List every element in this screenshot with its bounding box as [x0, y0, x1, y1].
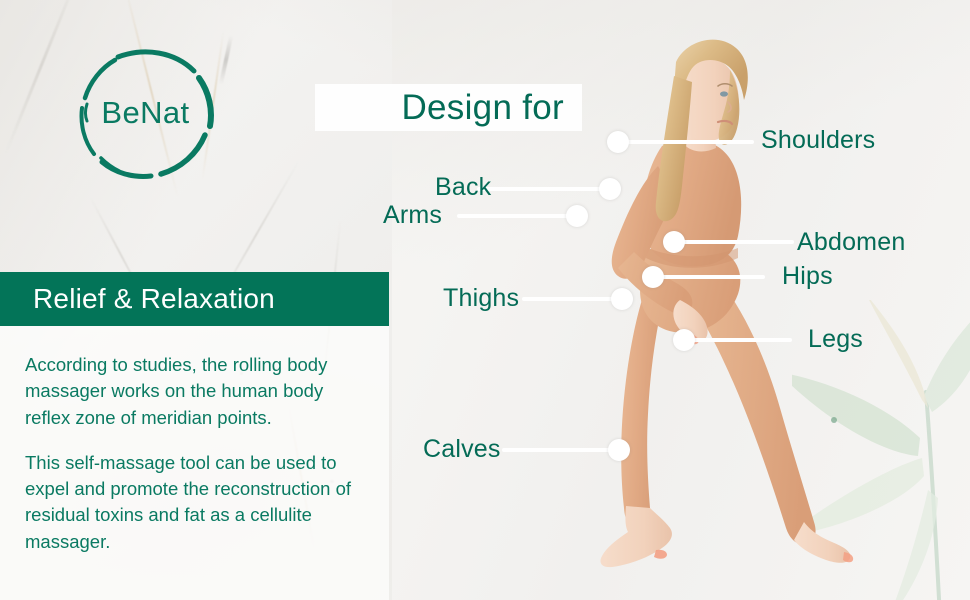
product-infographic: Shoulders Back Arms Abdomen Hips Thighs … — [0, 0, 970, 600]
callout-dot-hips[interactable] — [642, 266, 664, 288]
callout-dot-legs[interactable] — [673, 329, 695, 351]
info-panel-title: Relief & Relaxation — [33, 285, 275, 313]
callout-dot-arms[interactable] — [566, 205, 588, 227]
info-panel: Relief & Relaxation According to studies… — [0, 272, 389, 600]
woman-model-photo — [552, 36, 872, 596]
leader-line-calves — [502, 448, 617, 452]
design-for-title: Design for — [401, 90, 564, 125]
callout-label-thighs: Thighs — [443, 286, 519, 311]
callout-label-abdomen: Abdomen — [797, 230, 905, 255]
callout-label-legs: Legs — [808, 327, 863, 352]
leader-line-hips — [661, 275, 765, 279]
leader-line-shoulders — [624, 140, 754, 144]
callout-label-back: Back — [435, 175, 491, 200]
leader-line-thighs — [522, 297, 620, 301]
leader-line-arms — [457, 214, 575, 218]
callout-label-hips: Hips — [782, 264, 833, 289]
info-paragraph-2: This self-massage tool can be used to ex… — [25, 450, 361, 555]
info-panel-body: According to studies, the rolling body m… — [0, 326, 389, 600]
leader-line-legs — [692, 338, 792, 342]
info-panel-header: Relief & Relaxation — [0, 272, 389, 326]
brand-logo-text: BeNat — [63, 38, 228, 188]
callout-dot-thighs[interactable] — [611, 288, 633, 310]
callout-dot-shoulders[interactable] — [607, 131, 629, 153]
design-for-band: Design for — [315, 84, 582, 131]
leader-line-abdomen — [682, 240, 794, 244]
callout-dot-back[interactable] — [599, 178, 621, 200]
leader-line-back — [477, 187, 607, 191]
info-paragraph-1: According to studies, the rolling body m… — [25, 352, 361, 431]
callout-dot-calves[interactable] — [608, 439, 630, 461]
callout-label-shoulders: Shoulders — [761, 128, 875, 153]
callout-dot-abdomen[interactable] — [663, 231, 685, 253]
callout-label-arms: Arms — [383, 203, 442, 228]
callout-label-calves: Calves — [423, 437, 501, 462]
brand-logo[interactable]: BeNat — [63, 38, 228, 188]
